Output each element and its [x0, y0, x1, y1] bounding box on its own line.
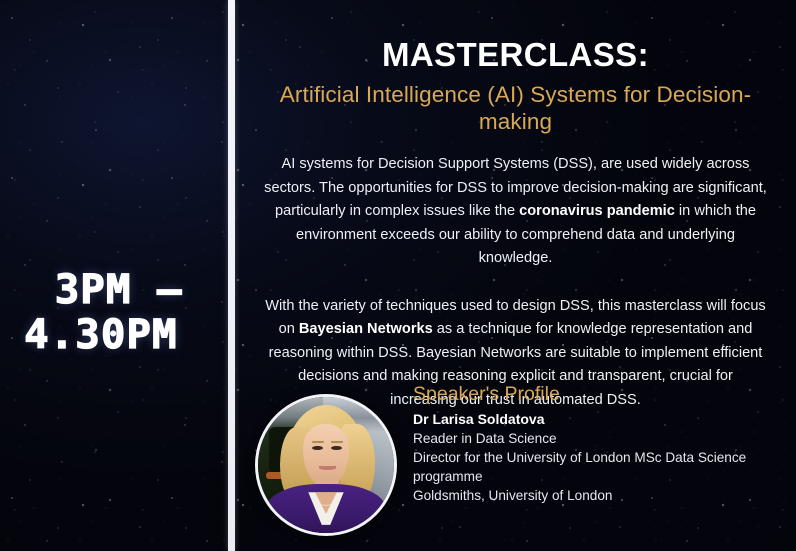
speaker-name: Dr Larisa Soldatova	[413, 410, 796, 429]
description-paragraph-1: AI systems for Decision Support Systems …	[249, 153, 782, 271]
page-subtitle: Artificial Intelligence (AI) Systems for…	[249, 81, 782, 135]
portrait-brow-left	[312, 441, 324, 443]
right-panel: MASTERCLASS: Artificial Intelligence (AI…	[235, 0, 796, 551]
event-time-line-1: 3PM –	[24, 268, 218, 313]
left-panel: 3PM – 4.30PM	[0, 0, 228, 551]
speaker-details: Speaker's Profile Dr Larisa Soldatova Re…	[413, 382, 796, 505]
paragraph-1-emphasis: coronavirus pandemic	[519, 203, 675, 219]
event-time: 3PM – 4.30PM	[24, 268, 218, 358]
masterclass-poster: 3PM – 4.30PM MASTERCLASS: Artificial Int…	[0, 0, 796, 551]
page-title: MASTERCLASS:	[249, 36, 782, 74]
event-time-line-2: 4.30PM	[24, 313, 218, 358]
speaker-profile-heading: Speaker's Profile	[413, 382, 796, 406]
vertical-divider	[228, 0, 235, 551]
avatar	[255, 394, 397, 536]
paragraph-2-emphasis: Bayesian Networks	[299, 321, 433, 337]
speaker-portrait-image	[258, 397, 394, 533]
portrait-necklace	[319, 496, 333, 506]
speaker-position-line-2: programme	[413, 467, 796, 486]
portrait-brow-right	[331, 441, 343, 443]
speaker-institution: Goldsmiths, University of London	[413, 486, 796, 505]
speaker-section: Speaker's Profile Dr Larisa Soldatova Re…	[249, 382, 796, 536]
speaker-position-line-1: Director for the University of London MS…	[413, 448, 796, 467]
speaker-role: Reader in Data Science	[413, 429, 796, 448]
